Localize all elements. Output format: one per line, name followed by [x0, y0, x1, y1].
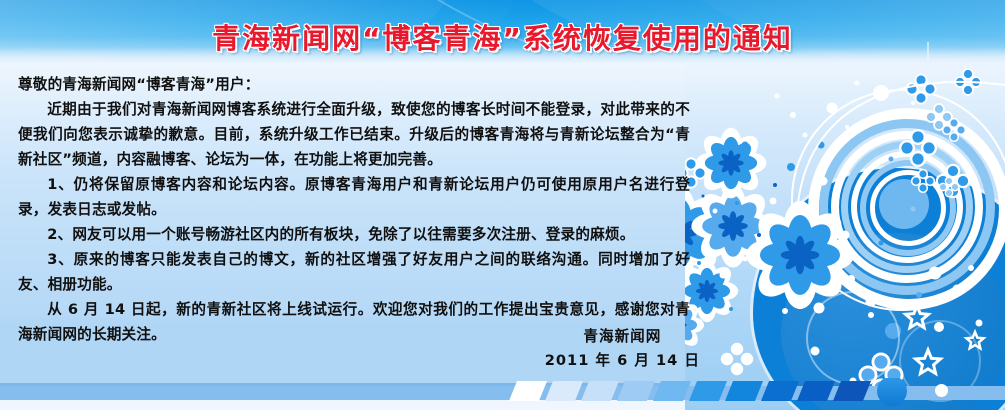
page-title: 青海新闻网“博客青海”系统恢复使用的通知	[0, 17, 1005, 57]
paragraph-2: 1、仍将保留原博客内容和论坛内容。原博客青海用户和青新论坛用户仍可使用原用户名进…	[18, 172, 690, 222]
signature-block: 青海新闻网 2011 年 6 月 14 日	[545, 325, 700, 373]
paragraph-3: 2、网友可以用一个账号畅游社区内的所有板块，免除了以往需要多次注册、登录的麻烦。	[18, 222, 690, 247]
notice-poster: 青海新闻网“博客青海”系统恢复使用的通知 尊敬的青海新闻网“博客青海”用户： 近…	[0, 0, 1005, 410]
paragraph-1: 近期由于我们对青海新闻网博客系统进行全面升级，致使您的博客长时间不能登录，对此带…	[18, 97, 690, 172]
notice-body: 尊敬的青海新闻网“博客青海”用户： 近期由于我们对青海新闻网博客系统进行全面升级…	[18, 72, 690, 347]
stripe-end-circle-icon	[877, 378, 907, 406]
signature-organization: 青海新闻网	[545, 325, 700, 349]
signature-date: 2011 年 6 月 14 日	[545, 349, 700, 373]
paragraph-4: 3、原来的博客只能发表自己的博文，新的社区增强了好友用户之间的联络沟通。同时增加…	[18, 247, 690, 297]
bottom-stripe-bar	[0, 378, 1005, 410]
salutation: 尊敬的青海新闻网“博客青海”用户：	[18, 72, 690, 97]
stripe-accent-dot-icon	[935, 384, 948, 397]
